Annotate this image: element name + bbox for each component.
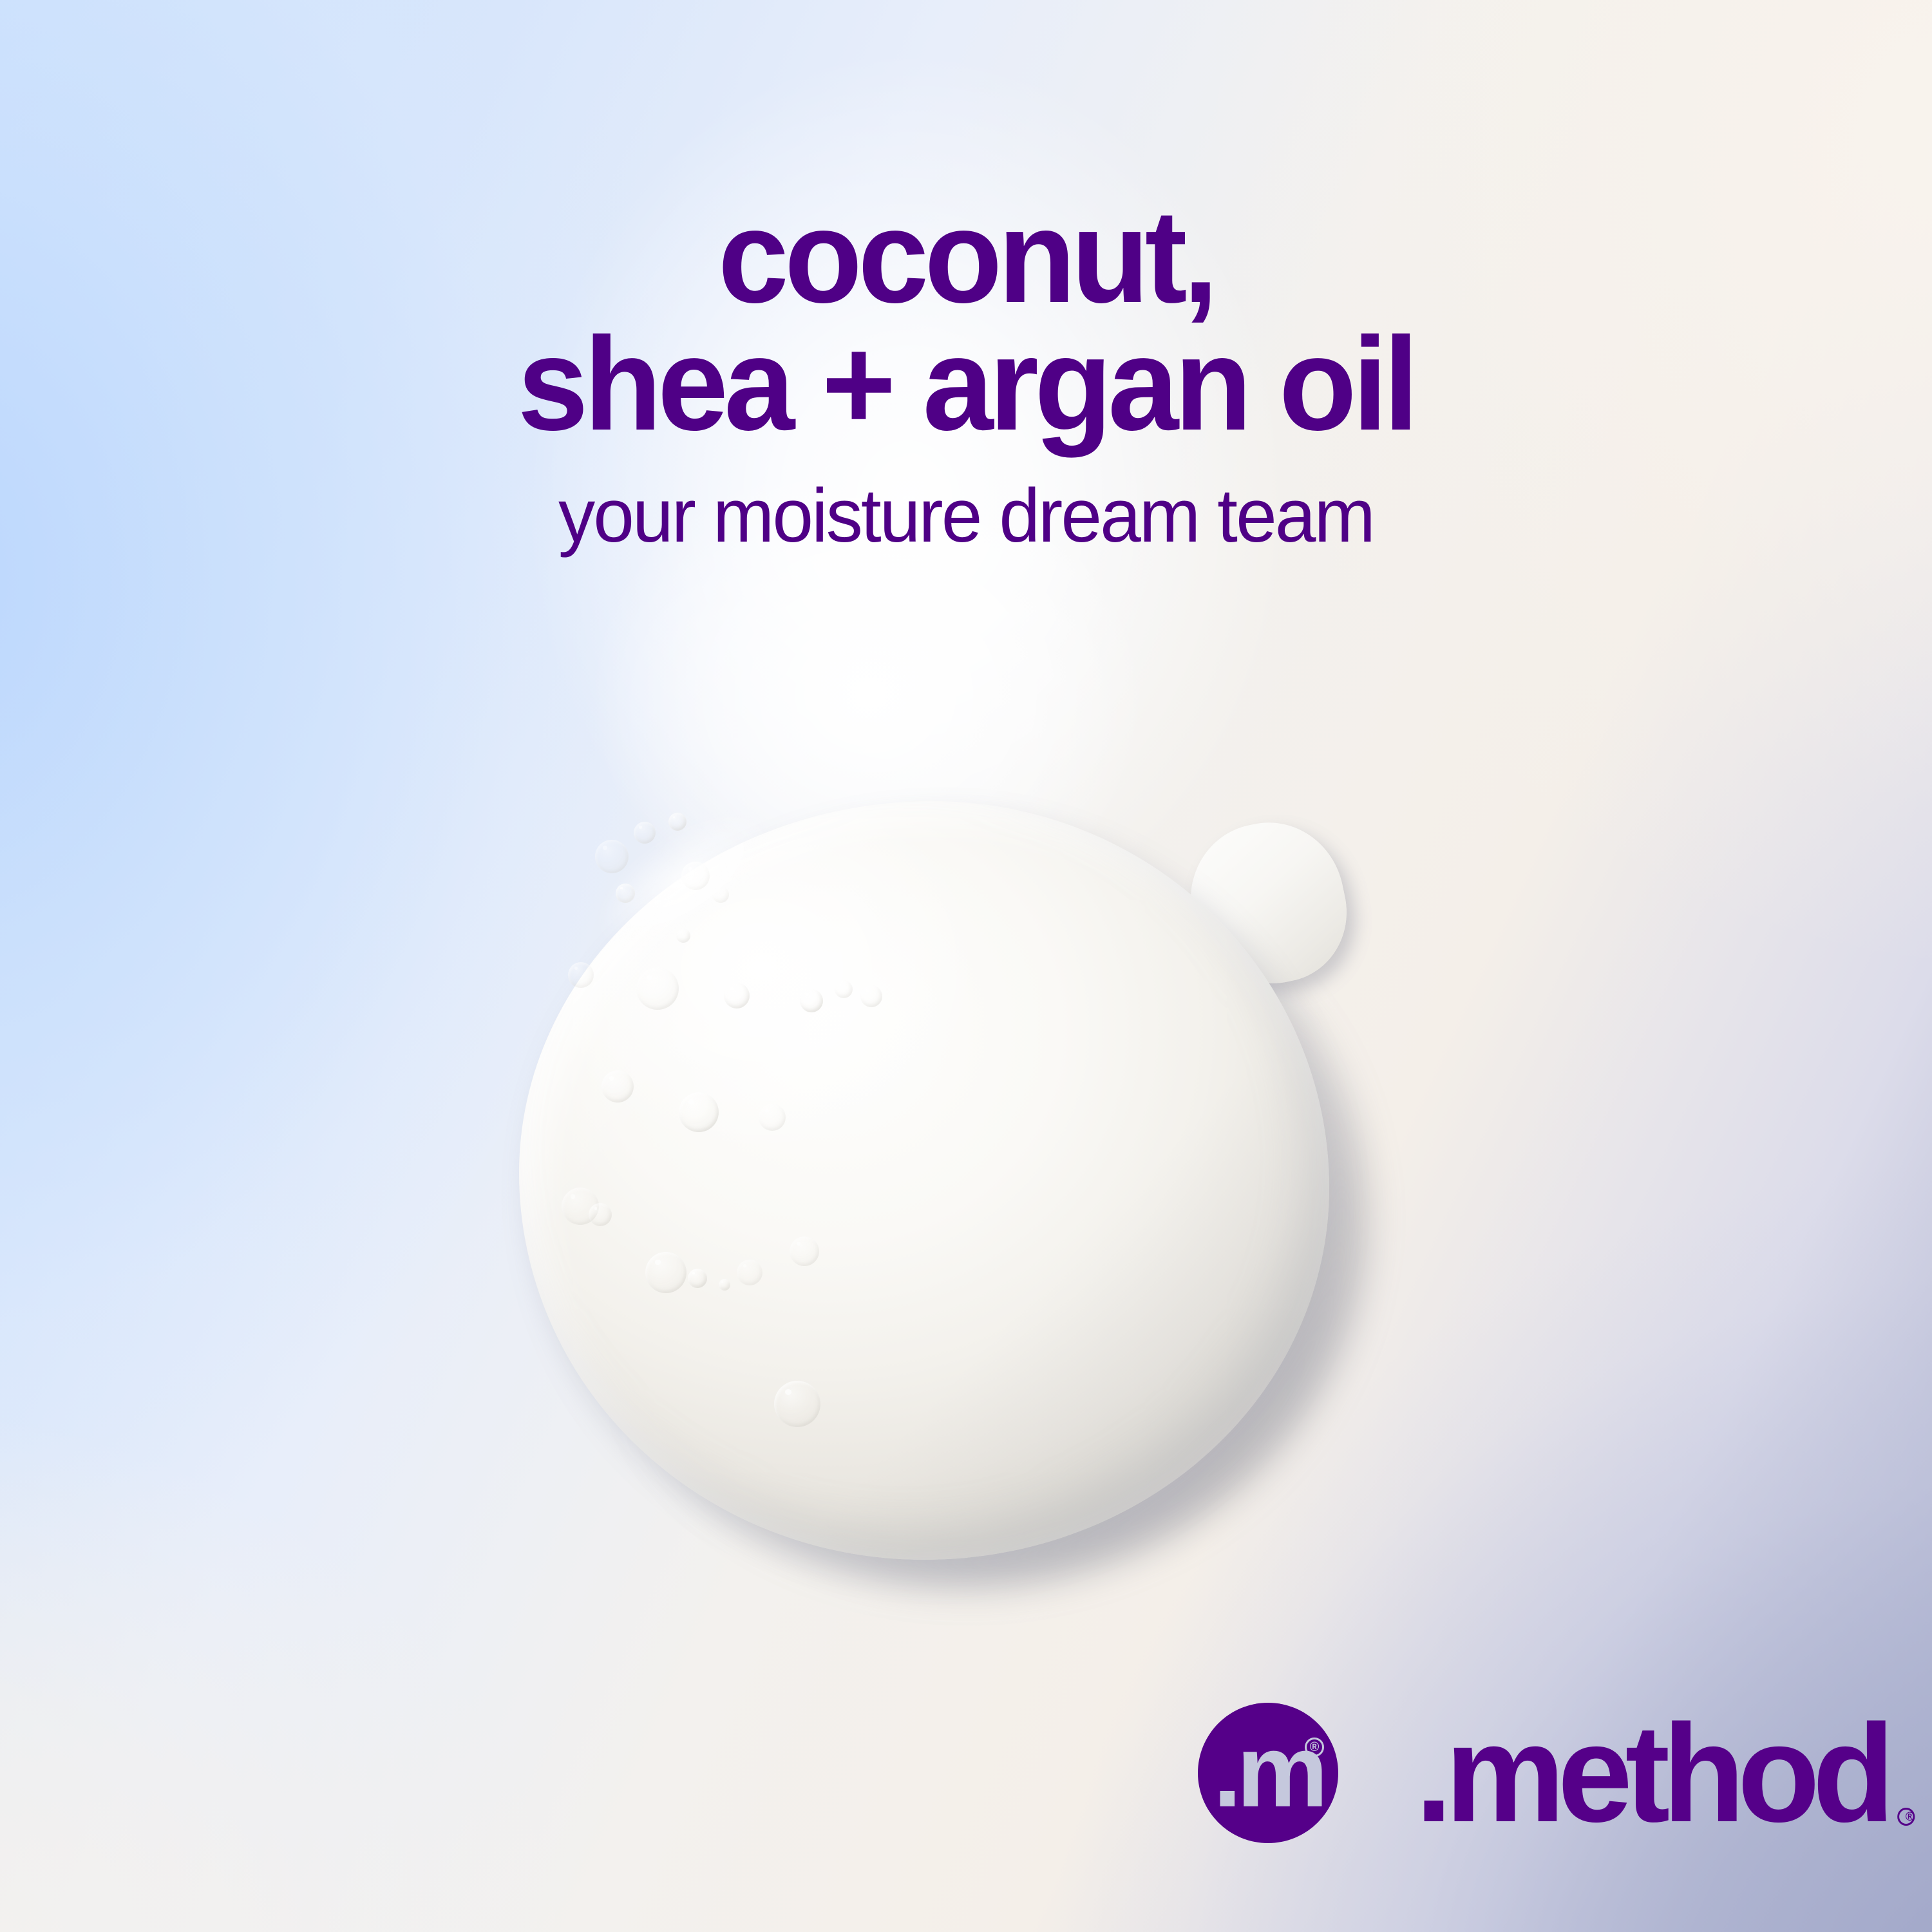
droplet-bubble (595, 840, 629, 873)
method-wordmark: .method ® (1415, 1703, 1887, 1842)
droplet-bubble (800, 989, 823, 1012)
droplet-bubble (634, 822, 656, 844)
advertisement-canvas: coconut, shea + argan oil your moisture … (0, 0, 1932, 1932)
method-mark-glyph: .m (1198, 1719, 1338, 1823)
droplet-bubble (759, 1104, 786, 1131)
droplet-bubble (679, 1092, 719, 1132)
droplet-bubble (860, 985, 882, 1007)
droplet-bubble (668, 813, 687, 831)
registered-trademark-icon-wordmark: ® (1897, 1808, 1915, 1826)
droplet-bubble (589, 1203, 612, 1226)
droplet-bubble (737, 1260, 762, 1285)
brand-lockup: .m ® .method ® (1198, 1673, 1842, 1873)
droplet-bubble (774, 1381, 820, 1427)
cream-droplet (496, 773, 1397, 1597)
method-circle-mark-icon: .m ® (1198, 1703, 1338, 1843)
droplet-bubble (835, 980, 853, 998)
method-wordmark-text: .method (1415, 1695, 1887, 1851)
droplet-bubble (719, 1279, 730, 1291)
droplet-bubble (790, 1236, 819, 1266)
droplet-bubble (688, 1269, 707, 1288)
headline: coconut, shea + argan oil (39, 193, 1893, 448)
copy-block: coconut, shea + argan oil your moisture … (0, 193, 1932, 554)
droplet-bubble (645, 1252, 687, 1293)
droplet-bubble (601, 1070, 634, 1103)
droplet-bubble (676, 929, 690, 943)
droplet-bubble (636, 967, 679, 1010)
subheadline: your moisture dream team (29, 478, 1903, 554)
droplet-bubble (568, 962, 594, 988)
droplet-bubble (724, 983, 750, 1009)
registered-trademark-icon-mark: ® (1305, 1738, 1324, 1757)
